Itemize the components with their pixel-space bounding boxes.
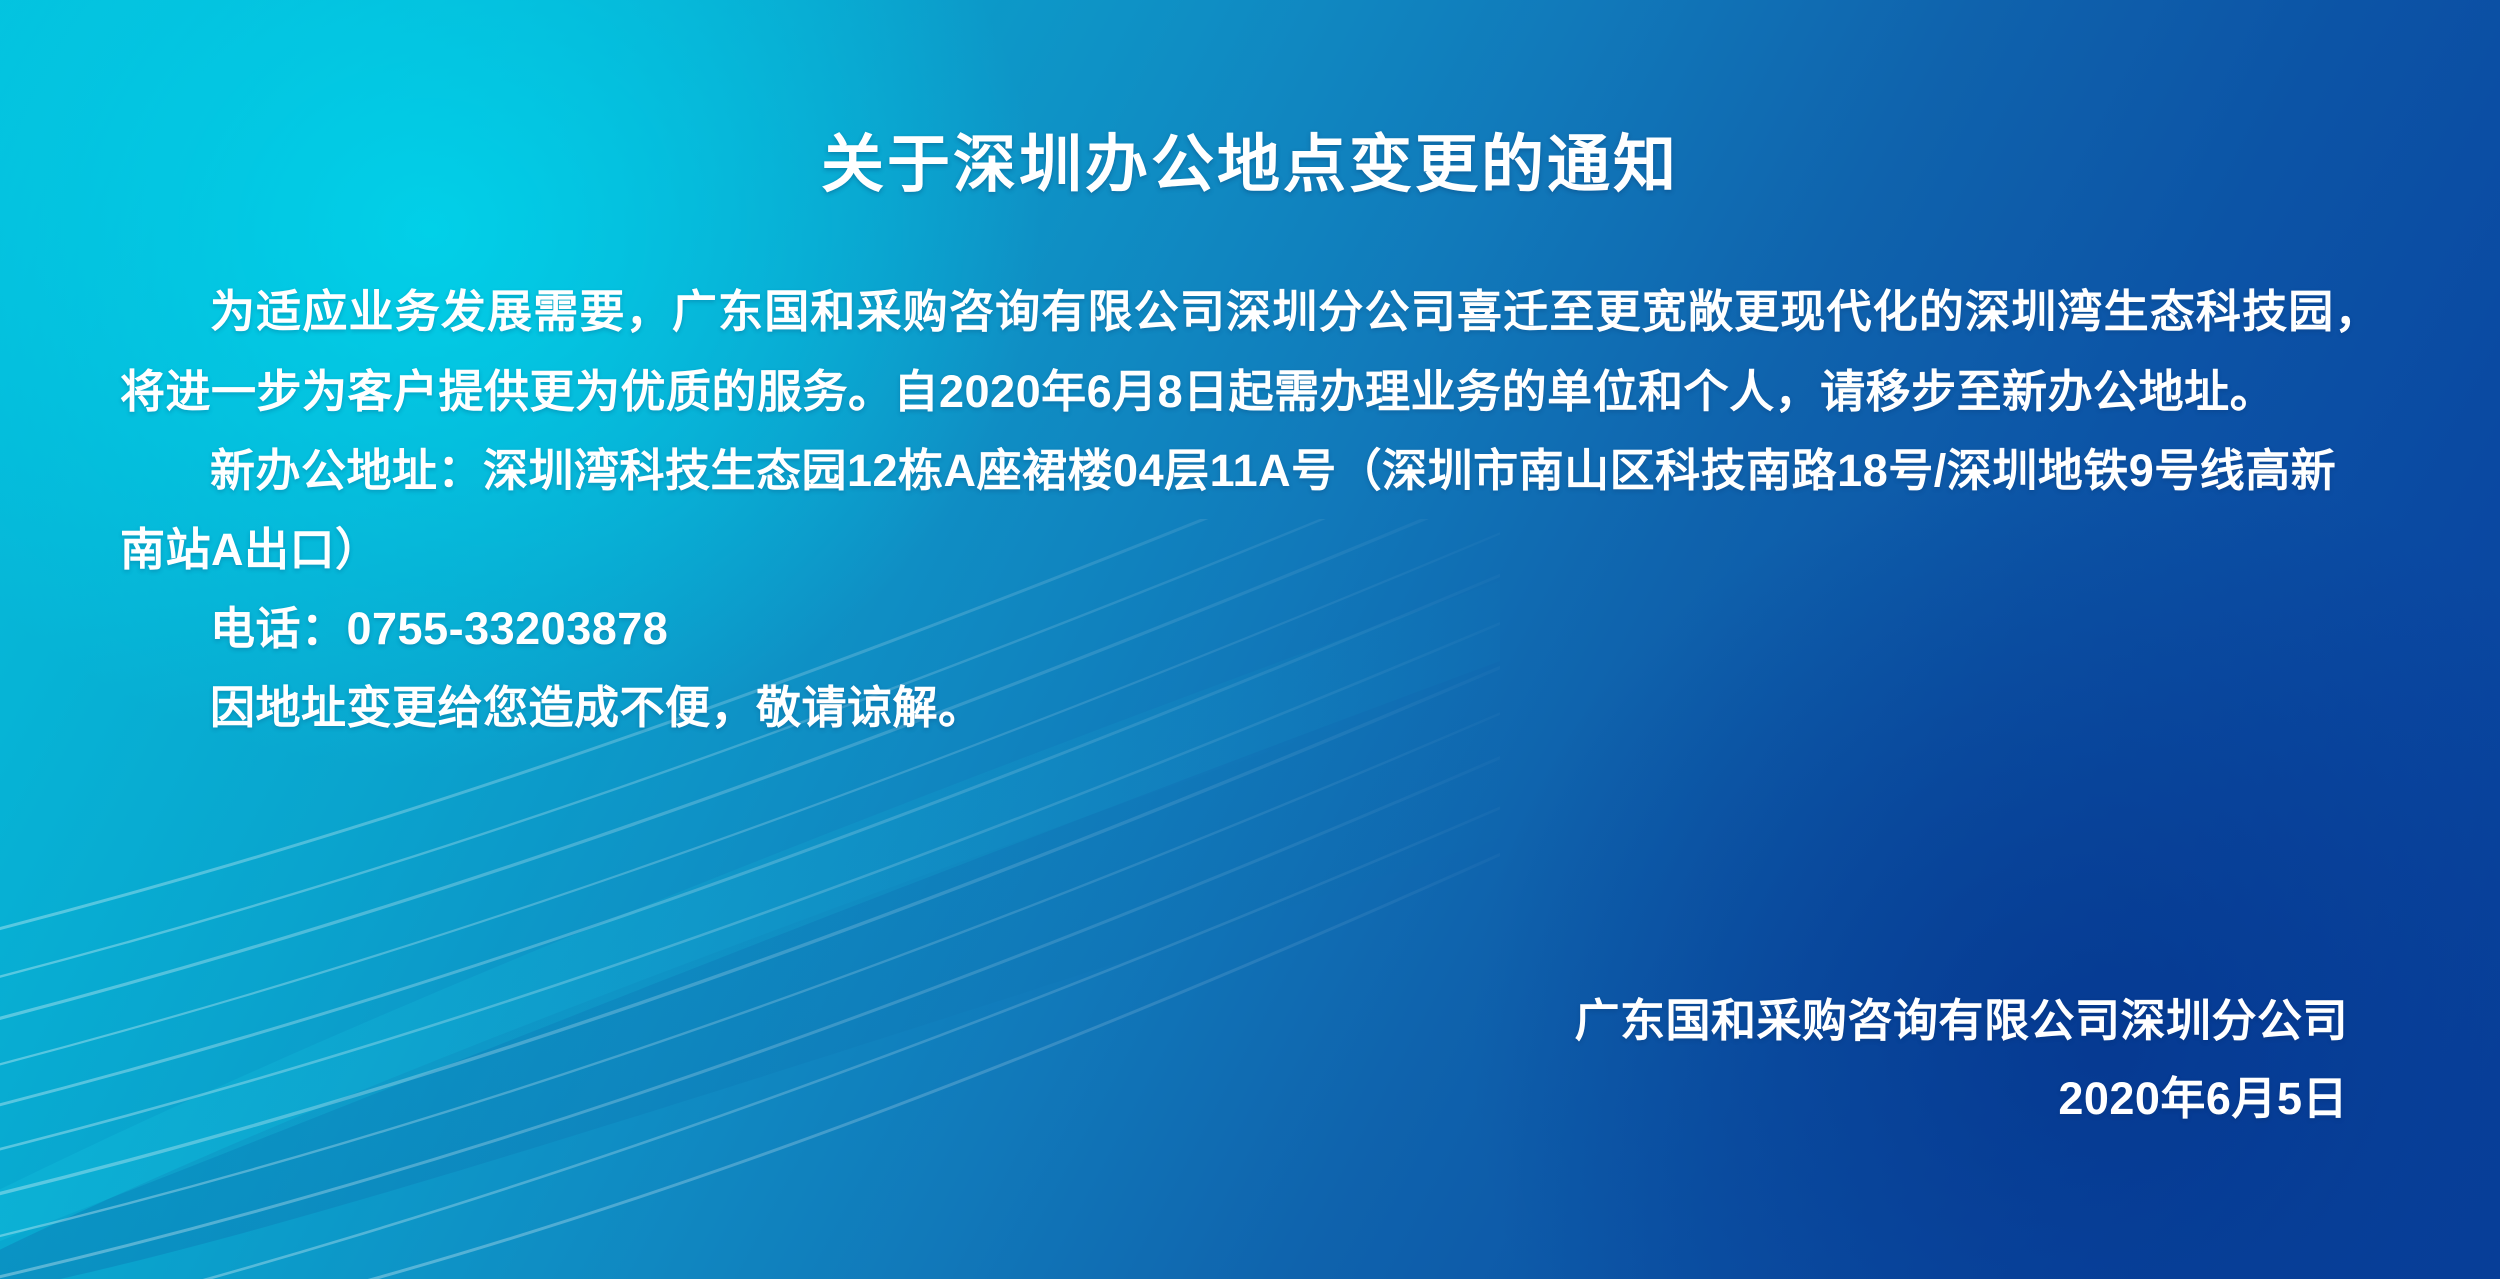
paragraph-new-address: 新办公地址：深圳湾科技生态园12栋A座裙楼04层11A号（深圳市南山区科技南路1…: [120, 431, 2380, 589]
notice-banner: 关于深圳办公地点变更的通知 为适应业务发展需要，广东国和采购咨询有限公司深圳分公…: [0, 0, 2500, 1279]
paragraph-phone: 电话：0755-33203878: [120, 589, 2380, 668]
notice-body: 为适应业务发展需要，广东国和采购咨询有限公司深圳分公司喜迁至更宽敞更现代化的深圳…: [120, 272, 2380, 747]
signature-date: 2020年6月5日: [1574, 1060, 2348, 1139]
notice-document: 关于深圳办公地点变更的通知 为适应业务发展需要，广东国和采购咨询有限公司深圳分公…: [0, 0, 2500, 1279]
paragraph-intro: 为适应业务发展需要，广东国和采购咨询有限公司深圳分公司喜迁至更宽敞更现代化的深圳…: [120, 272, 2380, 430]
page-title: 关于深圳办公地点变更的通知: [120, 0, 2380, 202]
paragraph-apology: 因地址变更给您造成不便，敬请谅解。: [120, 668, 2380, 747]
signature-block: 广东国和采购咨询有限公司深圳分公司 2020年6月5日: [1574, 982, 2348, 1140]
signature-company: 广东国和采购咨询有限公司深圳分公司: [1574, 982, 2348, 1061]
